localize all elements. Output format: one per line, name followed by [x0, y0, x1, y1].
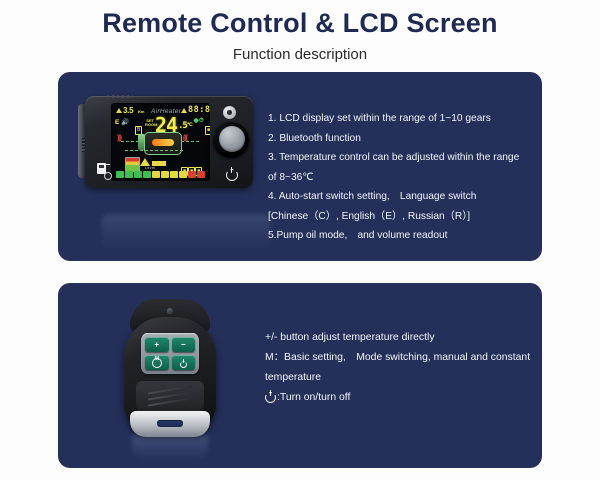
temperature-unit: ℃: [187, 123, 193, 127]
remote-keypad: + −: [141, 333, 199, 374]
altitude-triangle-icon: [116, 108, 122, 113]
remote-feature-list: +/- button adjust temperature directly M…: [265, 328, 533, 408]
signal-box-icon: ■: [205, 118, 210, 136]
minus-button[interactable]: −: [172, 337, 196, 352]
mode-button[interactable]: [145, 355, 169, 370]
speaker-icon: 🔊: [121, 118, 129, 126]
language-indicator: E: [115, 119, 119, 126]
feature-item-2: 2. Bluetooth function: [268, 129, 530, 149]
airflow-line-right: [181, 141, 199, 142]
remote-led-icon: [167, 308, 173, 314]
lcd-top-vents: [107, 95, 133, 98]
rotary-knob[interactable]: [213, 122, 249, 158]
power-button[interactable]: [172, 355, 196, 370]
temperature-decimal: .5: [178, 122, 187, 131]
altitude-value: 3.5: [123, 106, 133, 115]
feature-item-3: 3. Temperature control can be adjusted w…: [268, 148, 530, 187]
remote-reflection: [132, 435, 208, 461]
gear-gauge-icon: [125, 157, 140, 172]
lcd-panel: 3.5 Km AirHeater 88:88 E 🔊 B SET ROOM: [58, 72, 542, 261]
remote-chrome-base: [130, 411, 210, 437]
minus-button-label: −: [172, 337, 196, 352]
timer-icon: ⏱: [199, 118, 204, 125]
lcd-body: 3.5 Km AirHeater 88:88 E 🔊 B SET ROOM: [85, 96, 253, 188]
level-bar: [116, 171, 205, 178]
fuel-pump-icon: [97, 162, 110, 176]
warning-triangle-icon: [140, 158, 150, 166]
set-room-label: SET ROOM: [145, 119, 154, 128]
page-title: Remote Control & LCD Screen: [0, 0, 600, 39]
heater-chamber-icon: [144, 132, 182, 155]
product-infographic: Remote Control & LCD Screen Function des…: [0, 0, 600, 480]
page-subtitle: Function description: [0, 39, 600, 63]
feature-item-4: 4. Auto-start switch setting, Language s…: [268, 187, 530, 207]
remote-item-3: :Turn on/turn off: [265, 388, 533, 408]
header: Remote Control & LCD Screen Function des…: [0, 0, 600, 63]
feature-item-5: 5.Pump oil mode, and volume readout: [268, 226, 530, 246]
clock-triangle-icon: [181, 108, 187, 113]
clock-value: 88:88: [188, 105, 210, 115]
airflow-line-bottom: [125, 150, 185, 151]
remote-panel: + − +/- b: [58, 283, 542, 468]
feature-item-4-languages: [Chinese（C）, English（E）, Russian（R）]: [268, 207, 530, 227]
remote-item-1: +/- button adjust temperature directly: [265, 328, 533, 348]
lcd-feature-list: 1. LCD display set within the range of 1…: [268, 109, 530, 246]
gear-icon[interactable]: [223, 106, 236, 119]
power-icon: [180, 359, 187, 366]
remote-item-3-text: :Turn on/turn off: [277, 392, 350, 403]
altitude-unit: Km: [138, 110, 144, 114]
mode-m-icon: [152, 358, 162, 368]
power-icon: [265, 390, 276, 401]
level-bar-label: Level: [145, 166, 156, 170]
feature-item-1: 1. LCD display set within the range of 1…: [268, 109, 530, 129]
remote-control-image: + −: [116, 299, 226, 451]
plus-button-label: +: [145, 337, 169, 352]
lcd-display-screen: 3.5 Km AirHeater 88:88 E 🔊 B SET ROOM: [111, 103, 210, 181]
lcd-controller-image: 3.5 Km AirHeater 88:88 E 🔊 B SET ROOM: [78, 94, 258, 194]
power-icon[interactable]: [225, 166, 238, 179]
plus-button[interactable]: +: [145, 337, 169, 352]
remote-item-2: M：Basic setting, Mode switching, manual …: [265, 348, 533, 388]
airflow-line-left: [121, 141, 139, 142]
flame-icon: [152, 139, 174, 146]
lcd-reflection: [102, 214, 270, 250]
